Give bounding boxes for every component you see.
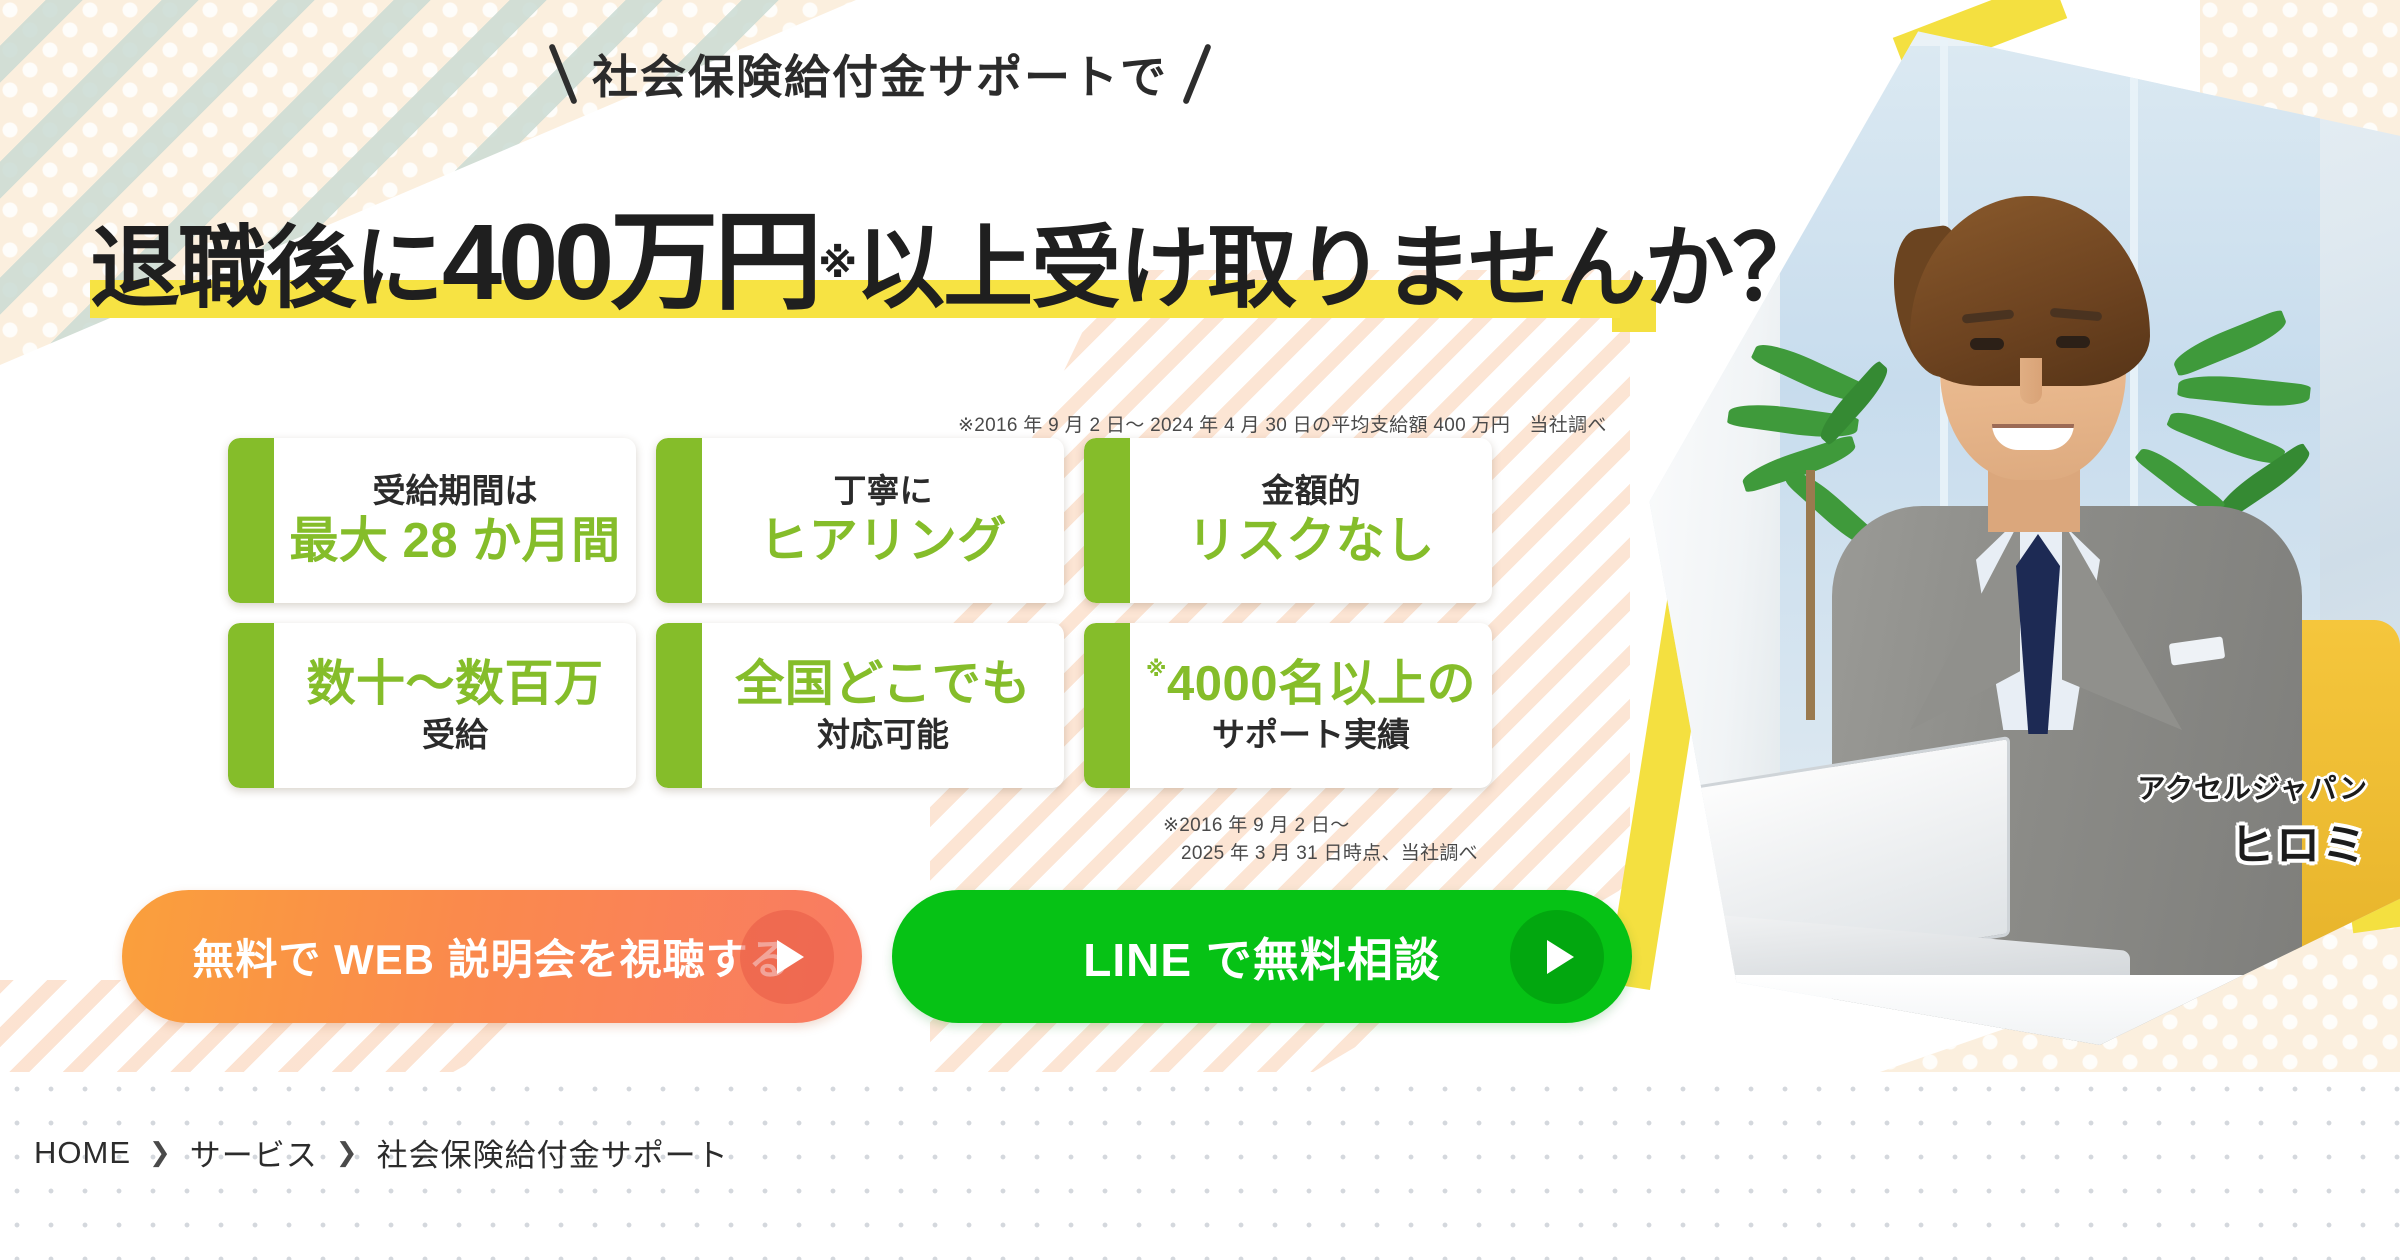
- chevron-right-icon: ❯: [336, 1137, 359, 1168]
- breadcrumb-section: HOME ❯ サービス ❯ 社会保険給付金サポート: [0, 1072, 2400, 1260]
- feature-card: 数十〜数百万 受給: [228, 623, 636, 788]
- headline-part-1: 退職後に: [90, 219, 442, 319]
- feature-card: 受給期間は 最大 28 か月間: [228, 438, 636, 603]
- chevron-right-icon: ❯: [149, 1137, 172, 1168]
- feature-card: ※4000名以上の サポート実績: [1084, 623, 1492, 788]
- feature-card-main: ヒアリング: [702, 512, 1064, 571]
- feature-card-body: 金額的 リスクなし: [1084, 470, 1492, 570]
- feature-card-sub: 丁寧に: [702, 470, 1064, 511]
- feature-card-main: 最大 28 か月間: [274, 512, 636, 571]
- feature-card-body: 数十〜数百万 受給: [228, 655, 636, 755]
- feature-card: 丁寧に ヒアリング: [656, 438, 1064, 603]
- hero-eyebrow: 社会保険給付金サポートで: [430, 38, 1330, 110]
- play-triangle: [777, 940, 804, 974]
- headline-amount: 400万円: [442, 201, 818, 322]
- breadcrumb-item-services[interactable]: サービス: [190, 1130, 318, 1175]
- feature-card-body: ※4000名以上の サポート実績: [1084, 655, 1492, 755]
- person-eye-left: [1970, 338, 2004, 350]
- person-nose: [2020, 358, 2042, 404]
- feature-card-asterisk-mark: ※: [1146, 658, 1167, 681]
- web-seminar-cta-label: 無料で WEB 説明会を視聴する: [192, 926, 791, 987]
- feature-card-sub: 金額的: [1130, 470, 1492, 511]
- line-consult-cta-button[interactable]: LINE で無料相談: [892, 890, 1632, 1023]
- feature-card-sub: 受給期間は: [274, 470, 636, 511]
- feature-card-sub: サポート実績: [1130, 714, 1492, 755]
- play-icon[interactable]: [1510, 910, 1604, 1004]
- hero-eyebrow-text: 社会保険給付金サポートで: [592, 41, 1168, 107]
- headline-part-2: 以上受け取りませんか？: [855, 219, 1820, 319]
- slash-right-icon: [1182, 43, 1212, 105]
- spokesperson-nameplate: アクセルジャパン ヒロミ: [1990, 760, 2390, 880]
- breadcrumb-item-home[interactable]: HOME: [34, 1135, 131, 1171]
- play-icon[interactable]: [740, 910, 834, 1004]
- feature-card-sub: 対応可能: [702, 714, 1064, 755]
- spokesperson-name: ヒロミ: [2230, 809, 2368, 873]
- feature-card-main: 数十〜数百万: [274, 655, 636, 714]
- support-footnote-line-1: ※2016 年 9 月 2 日〜: [1163, 815, 1350, 836]
- payout-footnote: ※2016 年 9 月 2 日〜 2024 年 4 月 30 日の平均支給額 4…: [958, 410, 1607, 437]
- play-triangle: [1547, 940, 1574, 974]
- support-footnote-line-2: 2025 年 3 月 31 日時点、当社調べ: [1163, 840, 1478, 868]
- feature-card: 全国どこでも 対応可能: [656, 623, 1064, 788]
- person-eye-right: [2056, 336, 2090, 348]
- feature-card-main: ※4000名以上の: [1130, 655, 1492, 714]
- person-mouth: [1992, 424, 2074, 450]
- breadcrumb-item-current: 社会保険給付金サポート: [377, 1130, 729, 1175]
- spokesperson-company: アクセルジャパン: [2137, 767, 2368, 807]
- feature-card-body: 全国どこでも 対応可能: [656, 655, 1064, 755]
- hero-headline-block: 退職後に400万円※以上受け取りませんか？: [90, 208, 1650, 318]
- plant-stem: [1806, 470, 1815, 720]
- feature-card-main: リスクなし: [1130, 512, 1492, 571]
- line-consult-cta-label: LINE で無料相談: [1083, 924, 1441, 990]
- feature-card-body: 丁寧に ヒアリング: [656, 470, 1064, 570]
- web-seminar-cta-button[interactable]: 無料で WEB 説明会を視聴する: [122, 890, 862, 1023]
- feature-card-main-text: 4000名以上の: [1167, 657, 1476, 711]
- feature-card-main: 全国どこでも: [702, 655, 1064, 714]
- breadcrumb: HOME ❯ サービス ❯ 社会保険給付金サポート: [34, 1130, 729, 1175]
- feature-card-grid: 受給期間は 最大 28 か月間 丁寧に ヒアリング 金額的 リスクなし 数十〜数…: [228, 438, 1492, 788]
- feature-card: 金額的 リスクなし: [1084, 438, 1492, 603]
- feature-card-sub: 受給: [274, 714, 636, 755]
- support-footnote: ※2016 年 9 月 2 日〜 2025 年 3 月 31 日時点、当社調べ: [1163, 812, 1478, 867]
- feature-card-body: 受給期間は 最大 28 か月間: [228, 470, 636, 570]
- slash-left-icon: [548, 43, 578, 105]
- headline-asterisk-mark: ※: [818, 242, 855, 286]
- hero-headline: 退職後に400万円※以上受け取りませんか？: [90, 208, 1820, 316]
